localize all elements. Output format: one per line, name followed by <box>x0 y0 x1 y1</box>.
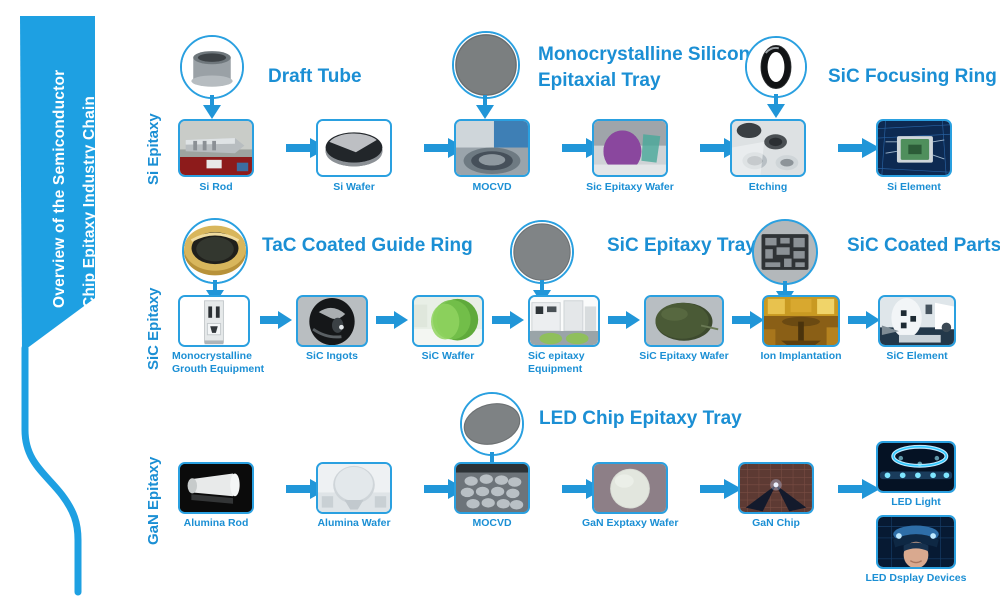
node-sic-element-image[interactable] <box>878 295 956 347</box>
node-si-element-image[interactable] <box>876 119 952 177</box>
flow-arrow-sic-5 <box>732 311 764 329</box>
node-sic-waffer-image[interactable] <box>412 295 484 347</box>
flow-arrow-sic-4 <box>608 311 640 329</box>
flow-arrow-gan-5 <box>838 479 880 499</box>
banner-title-line-2: Chip Epitaxy Industry Chain <box>81 96 99 308</box>
diagram-canvas: Overview of the Semiconductor Chip Epita… <box>0 0 1000 607</box>
node-si-rod-image[interactable] <box>178 119 254 177</box>
callout-tac-coated-guide-ring-icon <box>182 218 248 284</box>
caption-sic-epitaxy-wafer: SiC Epitaxy Wafer <box>634 350 734 363</box>
node-gan-epitaxy-wafer-image[interactable] <box>592 462 668 514</box>
caption-led-light: LED Light <box>876 496 956 509</box>
caption-sic-epitaxy-wafer-si: Sic Epitaxy Wafer <box>578 181 682 194</box>
caption-gan-epitaxy-wafer: GaN Exptaxy Wafer <box>582 517 678 530</box>
node-monocrystalline-growth-equipment-image[interactable] <box>178 295 250 347</box>
node-mocvd-si-image[interactable] <box>454 119 530 177</box>
callout-title-draft-tube: Draft Tube <box>268 64 362 90</box>
caption-etching: Etching <box>730 181 806 194</box>
caption-gan-chip: GaN Chip <box>738 517 814 530</box>
callout-pointer-sic-focusing-ring <box>761 94 791 120</box>
caption-si-rod: Si Rod <box>178 181 254 194</box>
flow-arrow-sic-2 <box>376 311 408 329</box>
callout-title-sic-epitaxy-tray: SiC Epitaxy Tray <box>607 233 756 259</box>
callout-sic-coated-parts-icon <box>752 219 818 285</box>
node-sic-ingots-image[interactable] <box>296 295 368 347</box>
caption-ion-implantation: Ion Implantation <box>756 350 846 363</box>
callout-sic-focusing-ring-icon <box>745 36 807 98</box>
flow-arrow-sic-3 <box>492 311 524 329</box>
callout-pointer-draft-tube <box>197 95 227 121</box>
node-sic-epitaxy-wafer-si-image[interactable] <box>592 119 668 177</box>
node-si-wafer-image[interactable] <box>316 119 392 177</box>
flow-arrow-si-5 <box>838 138 880 158</box>
flow-arrow-sic-1 <box>260 311 292 329</box>
caption-si-wafer: Si Wafer <box>316 181 392 194</box>
callout-title-sic-focusing-ring: SiC Focusing Ring <box>828 64 997 90</box>
caption-sic-waffer: SiC Waffer <box>412 350 484 363</box>
caption-alumina-rod: Alumina Rod <box>178 517 254 530</box>
caption-led-display-devices: LED Dsplay Devices <box>862 572 970 585</box>
caption-alumina-wafer: Alumina Wafer <box>316 517 392 530</box>
callout-draft-tube-icon <box>180 35 244 99</box>
caption-sic-epitaxy-equipment: SiC epitaxy Equipment <box>528 350 614 376</box>
callout-title-led-chip-epitaxy-tray: LED Chip Epitaxy Tray <box>539 406 742 432</box>
flow-arrow-gan-4 <box>700 479 742 499</box>
caption-sic-element: SiC Element <box>878 350 956 363</box>
caption-si-element: Si Element <box>876 181 952 194</box>
row-label-si-epitaxy: Si Epitaxy <box>145 113 162 185</box>
caption-mocvd-si: MOCVD <box>454 181 530 194</box>
callout-sic-epitaxy-tray-icon <box>510 220 574 284</box>
callout-title-tac-coated-guide-ring: TaC Coated Guide Ring <box>262 233 473 259</box>
caption-mocvd-gan: MOCVD <box>454 517 530 530</box>
node-sic-epitaxy-equipment-image[interactable] <box>528 295 600 347</box>
flow-arrow-sic-6 <box>848 311 880 329</box>
banner-text-group: Overview of the Semiconductor Chip Epita… <box>20 16 98 316</box>
callout-title-sic-coated-parts: SiC Coated Parts <box>847 233 1000 259</box>
node-ion-implantation-image[interactable] <box>762 295 840 347</box>
node-led-display-devices-image[interactable] <box>876 515 956 569</box>
callout-pointer-monocrystalline-silicon-tray <box>470 95 500 121</box>
node-alumina-wafer-image[interactable] <box>316 462 392 514</box>
node-sic-epitaxy-wafer-image[interactable] <box>644 295 724 347</box>
node-gan-chip-image[interactable] <box>738 462 814 514</box>
banner-title-line-1: Overview of the Semiconductor <box>51 70 69 308</box>
node-alumina-rod-image[interactable] <box>178 462 254 514</box>
callout-led-chip-epitaxy-tray-icon <box>460 392 524 456</box>
caption-monocrystalline-growth-equipment: Monocrystalline Grouth Equipment <box>172 350 268 376</box>
node-mocvd-gan-image[interactable] <box>454 462 530 514</box>
node-led-light-image[interactable] <box>876 441 956 493</box>
row-label-sic-epitaxy: SiC Epitaxy <box>145 287 162 370</box>
caption-sic-ingots: SiC Ingots <box>296 350 368 363</box>
node-etching-image[interactable] <box>730 119 806 177</box>
row-label-gan-epitaxy: GaN Epitaxy <box>145 457 162 545</box>
callout-monocrystalline-silicon-tray-icon <box>452 31 520 99</box>
